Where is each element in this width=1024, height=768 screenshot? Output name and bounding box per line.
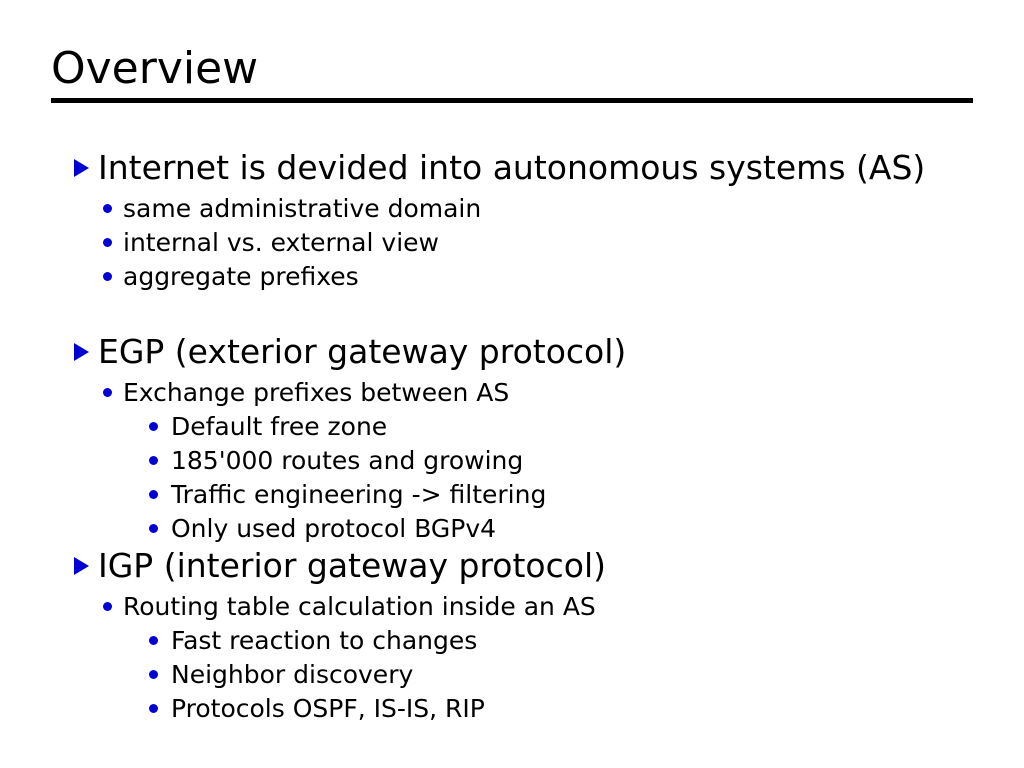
bullet-text: Internet is devided into autonomous syst…: [98, 148, 925, 188]
round-dot-icon: [149, 444, 171, 477]
round-dot-icon: [103, 376, 123, 409]
triangle-right-icon: [74, 546, 98, 586]
bullet-text: Traffic engineering -> filtering: [171, 478, 546, 511]
slide-body: Internet is devided into autonomous syst…: [0, 148, 1024, 726]
title-underline-rule: [51, 98, 973, 103]
round-dot-icon: [149, 692, 171, 725]
bullet-level3: 185'000 routes and growing: [0, 444, 1024, 478]
round-dot-icon: [149, 512, 171, 545]
bullet-text: same administrative domain: [123, 192, 481, 225]
bullet-level2: Exchange prefixes between AS: [0, 376, 1024, 410]
bullet-level3: Default free zone: [0, 410, 1024, 444]
bullet-level2: internal vs. external view: [0, 226, 1024, 260]
bullet-text: Exchange prefixes between AS: [123, 376, 509, 409]
round-dot-icon: [149, 658, 171, 691]
triangle-right-icon: [74, 148, 98, 188]
round-dot-icon: [149, 478, 171, 511]
bullet-level3: Fast reaction to changes: [0, 624, 1024, 658]
bullet-text: Default free zone: [171, 410, 387, 443]
triangle-right-icon: [74, 332, 98, 372]
bullet-text: Only used protocol BGPv4: [171, 512, 496, 545]
bullet-text: Fast reaction to changes: [171, 624, 477, 657]
bullet-level1: EGP (exterior gateway protocol): [0, 332, 1024, 376]
bullet-level2: Routing table calculation inside an AS: [0, 590, 1024, 624]
bullet-level3: Neighbor discovery: [0, 658, 1024, 692]
round-dot-icon: [103, 192, 123, 225]
bullet-text: IGP (interior gateway protocol): [98, 546, 606, 586]
section-spacer: [0, 294, 1024, 332]
slide-title-block: Overview: [51, 44, 973, 103]
bullet-text: Protocols OSPF, IS-IS, RIP: [171, 692, 485, 725]
bullet-level1: Internet is devided into autonomous syst…: [0, 148, 1024, 192]
round-dot-icon: [103, 260, 123, 293]
bullet-level2: aggregate prefixes: [0, 260, 1024, 294]
round-dot-icon: [149, 624, 171, 657]
bullet-level1: IGP (interior gateway protocol): [0, 546, 1024, 590]
bullet-level3: Traffic engineering -> filtering: [0, 478, 1024, 512]
bullet-level2: same administrative domain: [0, 192, 1024, 226]
bullet-level3: Protocols OSPF, IS-IS, RIP: [0, 692, 1024, 726]
bullet-text: Neighbor discovery: [171, 658, 413, 691]
presentation-slide: Overview Internet is devided into autono…: [0, 0, 1024, 768]
page-title: Overview: [51, 44, 973, 94]
bullet-level3: Only used protocol BGPv4: [0, 512, 1024, 546]
round-dot-icon: [103, 226, 123, 259]
round-dot-icon: [103, 590, 123, 623]
bullet-text: EGP (exterior gateway protocol): [98, 332, 626, 372]
bullet-text: Routing table calculation inside an AS: [123, 590, 596, 623]
bullet-text: aggregate prefixes: [123, 260, 359, 293]
bullet-text: internal vs. external view: [123, 226, 439, 259]
bullet-text: 185'000 routes and growing: [171, 444, 523, 477]
round-dot-icon: [149, 410, 171, 443]
